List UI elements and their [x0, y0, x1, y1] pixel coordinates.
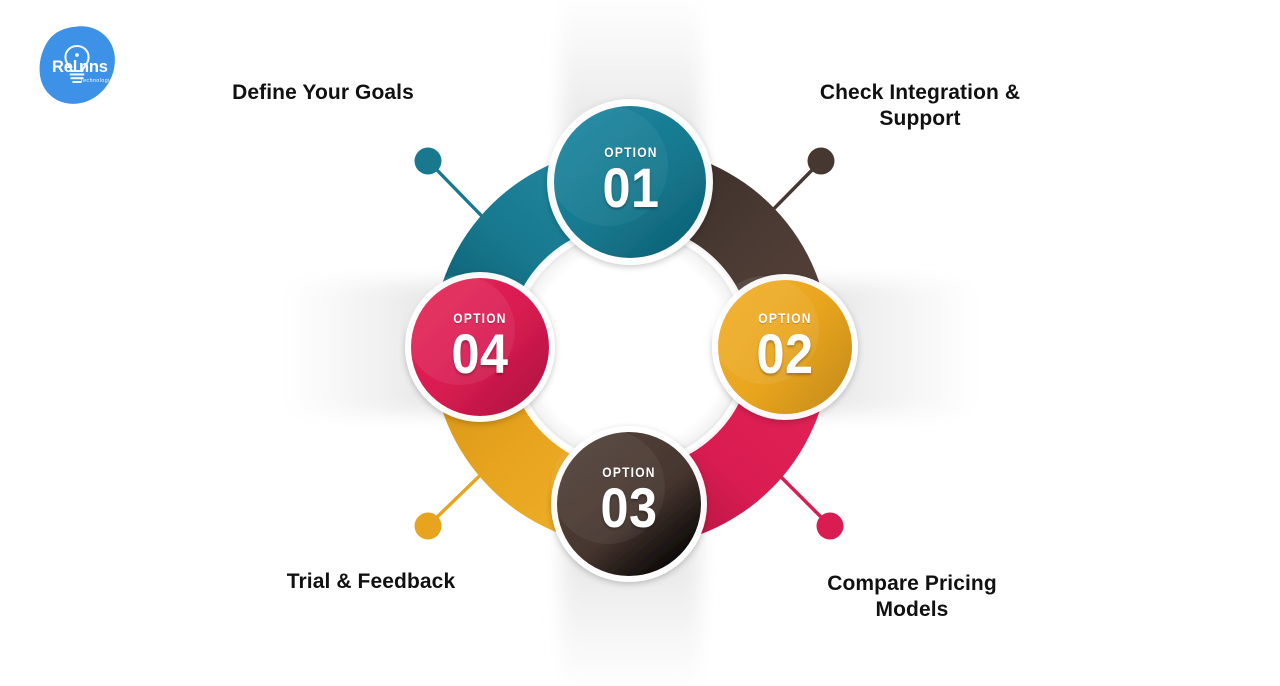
connector-dot-step-02 — [808, 148, 835, 175]
option-node-04-lobe — [405, 275, 515, 385]
step-label-compare-pricing-models: Compare Pricing Models — [752, 571, 1072, 624]
option-node-02[interactable] — [711, 274, 858, 420]
step-label-trial-feedback: Trial & Feedback — [191, 569, 551, 595]
option-node-03[interactable] — [551, 426, 707, 582]
step-label-define-your-goals: Define Your Goals — [143, 80, 503, 106]
step-label-check-integration-support: Check Integration & Support — [760, 80, 1080, 133]
connector-dot-step-04 — [415, 513, 442, 540]
option-node-04[interactable] — [405, 272, 555, 422]
connector-dot-step-01 — [415, 148, 442, 175]
connector-dot-step-03 — [817, 513, 844, 540]
option-node-01[interactable] — [547, 99, 713, 265]
option-node-02-lobe — [711, 276, 819, 384]
option-node-03-lobe — [551, 430, 665, 544]
option-node-01-lobe — [548, 106, 668, 226]
